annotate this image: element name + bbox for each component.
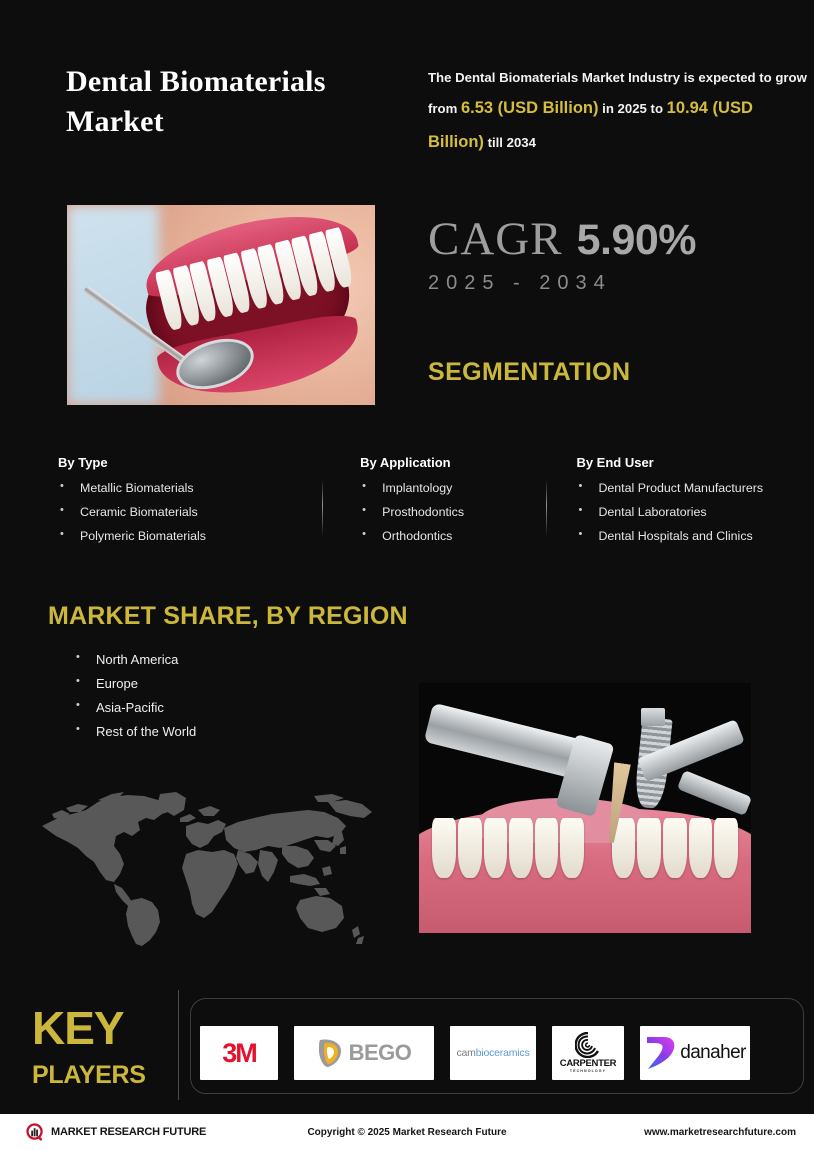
list-item: Europe bbox=[74, 677, 196, 690]
list-item: Asia-Pacific bbox=[74, 701, 196, 714]
logo-3m-text: 3M bbox=[222, 1038, 256, 1069]
carpenter-spiral-c-icon bbox=[575, 1032, 601, 1058]
column-divider bbox=[322, 479, 323, 537]
footer-copyright: Copyright © 2025 Market Research Future bbox=[307, 1127, 506, 1138]
key-players-divider bbox=[178, 990, 179, 1100]
segmentation-columns: By Type Metallic Biomaterials Ceramic Bi… bbox=[58, 455, 798, 554]
cagr-line: CAGR 5.90% bbox=[428, 212, 696, 266]
logo-cam-text: cambioceramics bbox=[456, 1047, 529, 1059]
dental-implant-illustration bbox=[419, 683, 751, 933]
logo-cam-text-b: bioceramics bbox=[476, 1047, 530, 1059]
segment-title: By End User bbox=[576, 455, 798, 470]
infographic-page: Dental Biomaterials Market The Dental Bi… bbox=[0, 0, 814, 1150]
danaher-swoosh-icon bbox=[644, 1035, 678, 1071]
column-divider bbox=[546, 479, 547, 537]
footer-brand: MARKET RESEARCH FUTURE bbox=[26, 1123, 206, 1142]
region-list: North America Europe Asia-Pacific Rest o… bbox=[74, 653, 196, 749]
list-item: Dental Laboratories bbox=[576, 506, 798, 518]
dental-mirror-teeth-photo bbox=[67, 205, 375, 405]
segment-title: By Application bbox=[360, 455, 554, 470]
logo-bego[interactable]: BEGO bbox=[294, 1026, 434, 1080]
logo-bego-inner: BEGO bbox=[317, 1038, 412, 1068]
list-item: Prosthodontics bbox=[360, 506, 554, 518]
list-item: Implantology bbox=[360, 482, 554, 494]
market-share-heading: MARKET SHARE, BY REGION bbox=[48, 602, 408, 631]
list-item: Ceramic Biomaterials bbox=[58, 506, 330, 518]
list-item: Dental Product Manufacturers bbox=[576, 482, 798, 494]
intro-part-3: till 2034 bbox=[484, 135, 536, 150]
logo-danaher-text: danaher bbox=[680, 1042, 746, 1064]
world-map-silhouette bbox=[28, 788, 388, 953]
segmentation-column-by-type: By Type Metallic Biomaterials Ceramic Bi… bbox=[58, 455, 330, 554]
list-item: Polymeric Biomaterials bbox=[58, 530, 330, 542]
logo-cam-bioceramics[interactable]: cambioceramics bbox=[450, 1026, 536, 1080]
list-item: Dental Hospitals and Clinics bbox=[576, 530, 798, 542]
list-item: Orthodontics bbox=[360, 530, 554, 542]
segmentation-heading: SEGMENTATION bbox=[428, 358, 630, 387]
logo-danaher[interactable]: danaher bbox=[640, 1026, 750, 1080]
segmentation-column-by-application: By Application Implantology Prosthodonti… bbox=[330, 455, 554, 554]
segment-list: Metallic Biomaterials Ceramic Biomateria… bbox=[58, 482, 330, 542]
page-title: Dental Biomaterials Market bbox=[66, 62, 426, 141]
illustration-teeth-row bbox=[432, 818, 737, 878]
key-players-logo-row: 3M BEGO cambioceramics bbox=[200, 1026, 798, 1080]
list-item: North America bbox=[74, 653, 196, 666]
segment-title: By Type bbox=[58, 455, 330, 470]
mrf-magnifier-chart-icon bbox=[26, 1123, 45, 1142]
logo-carpenter-technology[interactable]: CARPENTER TECHNOLOGY bbox=[552, 1026, 624, 1080]
logo-danaher-inner: danaher bbox=[644, 1035, 746, 1071]
market-value-2025: 6.53 (USD Billion) bbox=[461, 99, 599, 117]
illustration-forceps-lower bbox=[677, 770, 751, 816]
segment-list: Dental Product Manufacturers Dental Labo… bbox=[576, 482, 798, 542]
logo-carpenter-inner: CARPENTER TECHNOLOGY bbox=[560, 1032, 616, 1073]
key-players-title-line1: KEY bbox=[32, 1005, 124, 1051]
logo-bego-text: BEGO bbox=[349, 1040, 412, 1066]
segment-list: Implantology Prosthodontics Orthodontics bbox=[360, 482, 554, 542]
intro-part-2: in 2025 to bbox=[599, 101, 667, 116]
footer-url[interactable]: www.marketresearchfuture.com bbox=[644, 1127, 796, 1138]
intro-paragraph: The Dental Biomaterials Market Industry … bbox=[428, 64, 810, 160]
cagr-year-range: 2025 - 2034 bbox=[428, 272, 696, 295]
footer-bar: MARKET RESEARCH FUTURE Copyright © 2025 … bbox=[0, 1114, 814, 1150]
footer-brand-name: MARKET RESEARCH FUTURE bbox=[51, 1126, 206, 1138]
key-players-title-line2: PLAYERS bbox=[32, 1063, 146, 1088]
logo-3m[interactable]: 3M bbox=[200, 1026, 278, 1080]
cagr-block: CAGR 5.90% 2025 - 2034 bbox=[428, 212, 696, 295]
segmentation-column-by-end-user: By End User Dental Product Manufacturers… bbox=[554, 455, 798, 554]
bego-shield-icon bbox=[317, 1038, 343, 1068]
logo-cam-text-a: cam bbox=[456, 1047, 475, 1059]
list-item: Rest of the World bbox=[74, 725, 196, 738]
cagr-label: CAGR bbox=[428, 212, 563, 266]
logo-carpenter-subtext: TECHNOLOGY bbox=[570, 1070, 606, 1074]
logo-carpenter-text: CARPENTER bbox=[560, 1059, 616, 1069]
list-item: Metallic Biomaterials bbox=[58, 482, 330, 494]
illustration-implant-abutment bbox=[641, 708, 664, 726]
cagr-value: 5.90% bbox=[577, 216, 696, 265]
